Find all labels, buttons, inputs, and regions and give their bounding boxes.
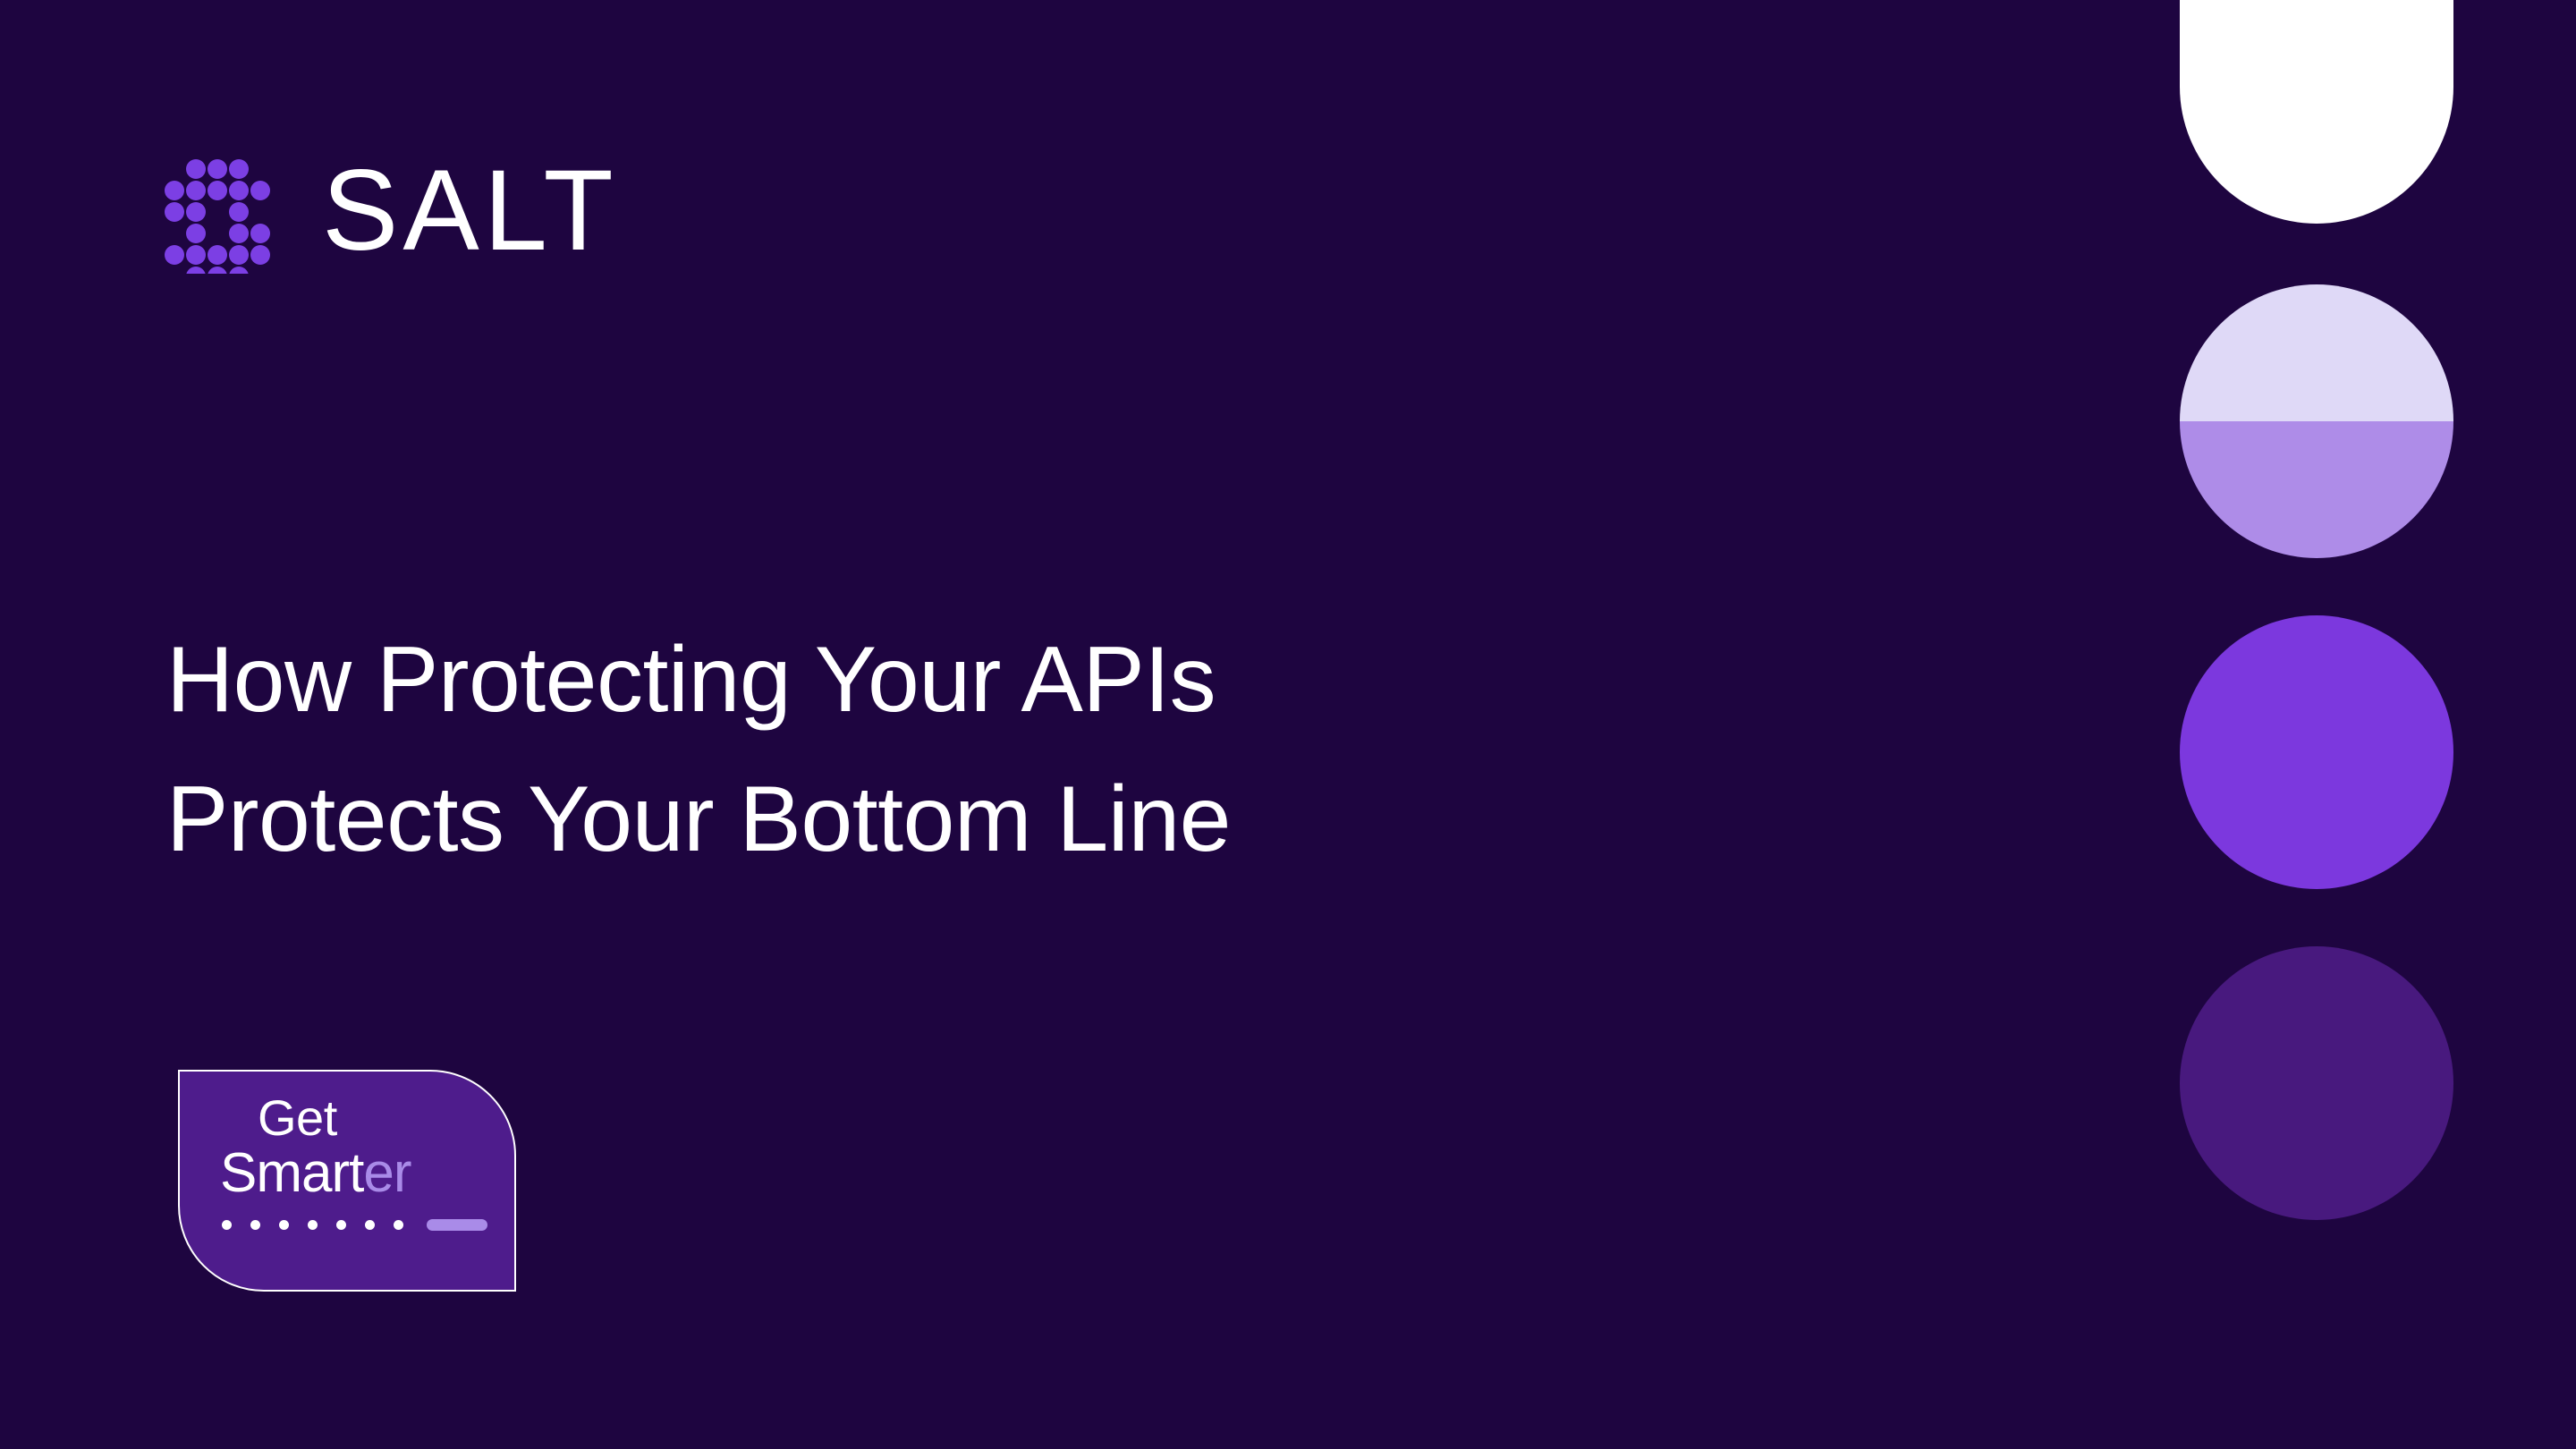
bright-purple-circle-shape xyxy=(2180,615,2453,889)
badge-text-get: Get xyxy=(220,1091,496,1144)
split-circle-shape xyxy=(2180,284,2453,558)
split-circle-top-half xyxy=(2180,284,2453,421)
get-smarter-badge-content: Get Smarter xyxy=(220,1091,496,1231)
badge-tick-row xyxy=(220,1219,496,1231)
badge-tick-dot xyxy=(394,1220,403,1230)
decorative-shape-column xyxy=(2180,0,2453,1449)
badge-tick-dot xyxy=(308,1220,318,1230)
split-circle-bottom-half xyxy=(2180,421,2453,558)
badge-text-smart: Smart xyxy=(220,1142,363,1204)
slide-title: How Protecting Your APIs Protects Your B… xyxy=(166,610,1687,889)
badge-tick-dot xyxy=(222,1220,232,1230)
salt-brand-lockup: SALT xyxy=(163,159,618,274)
salt-dot-matrix-logo-icon xyxy=(163,159,272,274)
badge-text-er-accent: er xyxy=(363,1142,411,1204)
badge-tick-dot xyxy=(279,1220,289,1230)
dark-violet-circle-shape xyxy=(2180,946,2453,1220)
badge-text-smarter: Smarter xyxy=(220,1144,496,1203)
badge-tick-dot xyxy=(336,1220,346,1230)
badge-tick-dash xyxy=(427,1219,487,1231)
white-capsule-shape xyxy=(2180,0,2453,224)
badge-tick-dot xyxy=(250,1220,260,1230)
title-slide: SALT How Protecting Your APIs Protects Y… xyxy=(0,0,2576,1449)
salt-wordmark: SALT xyxy=(322,154,618,268)
slide-title-line-1: How Protecting Your APIs xyxy=(166,610,1687,750)
slide-title-line-2: Protects Your Bottom Line xyxy=(166,750,1687,889)
get-smarter-badge: Get Smarter xyxy=(178,1070,516,1292)
badge-tick-dot xyxy=(365,1220,375,1230)
